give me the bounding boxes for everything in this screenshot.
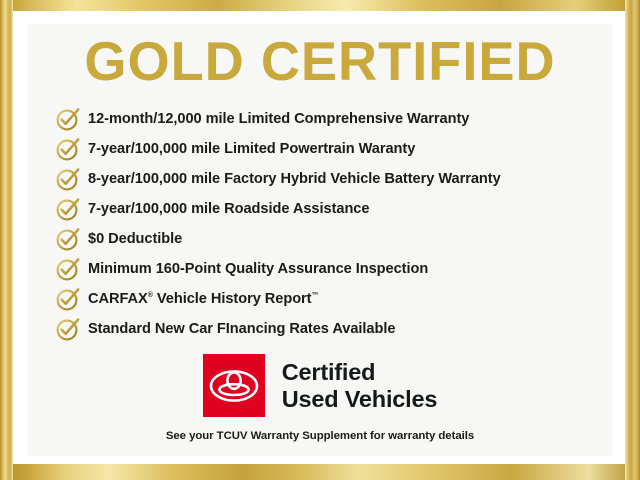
feature-label: Standard New Car FInancing Rates Availab… <box>88 322 395 337</box>
list-item: 7-year/100,000 mile Limited Powertrain W… <box>55 134 600 164</box>
frame-border-right <box>625 0 640 480</box>
lockup-line-2: Used Vehicles <box>282 386 437 413</box>
feature-list: 12-month/12,000 mile Limited Comprehensi… <box>55 104 600 344</box>
frame-border-bottom <box>0 464 640 480</box>
feature-label: Minimum 160-Point Quality Assurance Insp… <box>88 262 428 277</box>
list-item: $0 Deductible <box>55 224 600 254</box>
toyota-emblem-icon <box>203 354 265 417</box>
feature-label: 12-month/12,000 mile Limited Comprehensi… <box>88 112 469 127</box>
list-item: Standard New Car FInancing Rates Availab… <box>55 314 600 344</box>
check-circle-icon <box>55 196 81 222</box>
check-circle-icon <box>55 106 81 132</box>
list-item: Minimum 160-Point Quality Assurance Insp… <box>55 254 600 284</box>
warranty-footnote: See your TCUV Warranty Supplement for wa… <box>27 430 613 442</box>
check-circle-icon <box>55 226 81 252</box>
carfax-report-text: Vehicle History Report <box>153 291 312 307</box>
frame-border-left <box>0 0 13 480</box>
check-circle-icon <box>55 136 81 162</box>
check-circle-icon <box>55 286 81 312</box>
lockup-line-1: Certified <box>282 359 437 386</box>
gold-certified-badge: GOLD CERTIFIED 12-mont <box>0 0 640 480</box>
lockup-wordmark: Certified Used Vehicles <box>282 359 437 413</box>
feature-label: 7-year/100,000 mile Roadside Assistance <box>88 202 369 217</box>
toyota-certified-lockup: Certified Used Vehicles <box>27 354 613 417</box>
feature-label: $0 Deductible <box>88 232 182 247</box>
trademark-mark: ™ <box>312 292 319 299</box>
frame-border-top <box>0 0 640 11</box>
list-item: 7-year/100,000 mile Roadside Assistance <box>55 194 600 224</box>
check-circle-icon <box>55 256 81 282</box>
check-circle-icon <box>55 316 81 342</box>
page-title: GOLD CERTIFIED <box>41 30 599 92</box>
list-item: 8-year/100,000 mile Factory Hybrid Vehic… <box>55 164 600 194</box>
check-circle-icon <box>55 166 81 192</box>
badge-card: GOLD CERTIFIED 12-mont <box>27 24 613 456</box>
feature-label: 8-year/100,000 mile Factory Hybrid Vehic… <box>88 172 501 187</box>
feature-label: 7-year/100,000 mile Limited Powertrain W… <box>88 142 415 157</box>
feature-label-carfax: CARFAX® Vehicle History Report™ <box>88 292 319 307</box>
list-item: CARFAX® Vehicle History Report™ <box>55 284 600 314</box>
list-item: 12-month/12,000 mile Limited Comprehensi… <box>55 104 600 134</box>
carfax-wordmark: CARFAX <box>88 291 148 307</box>
